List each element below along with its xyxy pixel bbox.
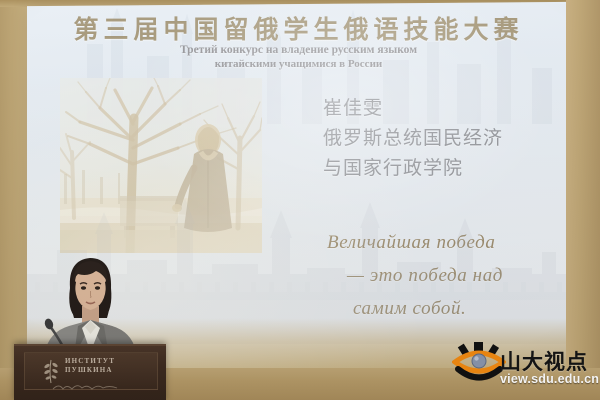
quote-line-1: Величайшая победа	[327, 226, 503, 259]
quote-line-2: — это победа над	[327, 259, 503, 292]
screenshot-root: 第三届中国留俄学生俄语技能大赛 Третий конкурс на владен…	[0, 0, 600, 400]
slide-presenter-info: 崔佳雯 俄罗斯总统国民经济 与国家行政学院	[323, 94, 503, 184]
slide-photo	[60, 78, 262, 253]
plaque-line-1: ИНСТИТУТ	[65, 357, 155, 366]
podium-plaque: ИНСТИТУТ ПУШКИНА	[65, 357, 155, 375]
subtitle-line-1: Третий конкурс на владение русским языко…	[27, 43, 570, 57]
podium-front-panel: ИНСТИТУТ ПУШКИНА	[24, 352, 158, 390]
presenter-affiliation-line-1: 俄罗斯总统国民经济	[323, 124, 503, 154]
slide-quote: Величайшая победа — это победа над самим…	[327, 226, 503, 325]
presenter-name: 崔佳雯	[323, 94, 503, 124]
slide-subtitle-russian: Третий конкурс на владение русским языко…	[27, 43, 570, 71]
sdu-eye-logo-icon	[452, 341, 506, 381]
subtitle-line-2: китайскими учащимися в России	[27, 57, 570, 71]
slide-title-chinese: 第三届中国留俄学生俄语技能大赛	[27, 10, 570, 46]
presenter-affiliation-line-2: 与国家行政学院	[323, 154, 503, 184]
wall-right-strip	[566, 0, 600, 400]
podium: ИНСТИТУТ ПУШКИНА	[14, 344, 166, 400]
watermark-url: view.sdu.edu.cn	[500, 372, 599, 386]
quote-line-3: самим собой.	[327, 292, 503, 325]
pushkin-signature	[51, 379, 121, 389]
watermark: 山大视点 view.sdu.edu.cn	[452, 341, 598, 393]
plaque-line-2: ПУШКИНА	[65, 366, 155, 375]
